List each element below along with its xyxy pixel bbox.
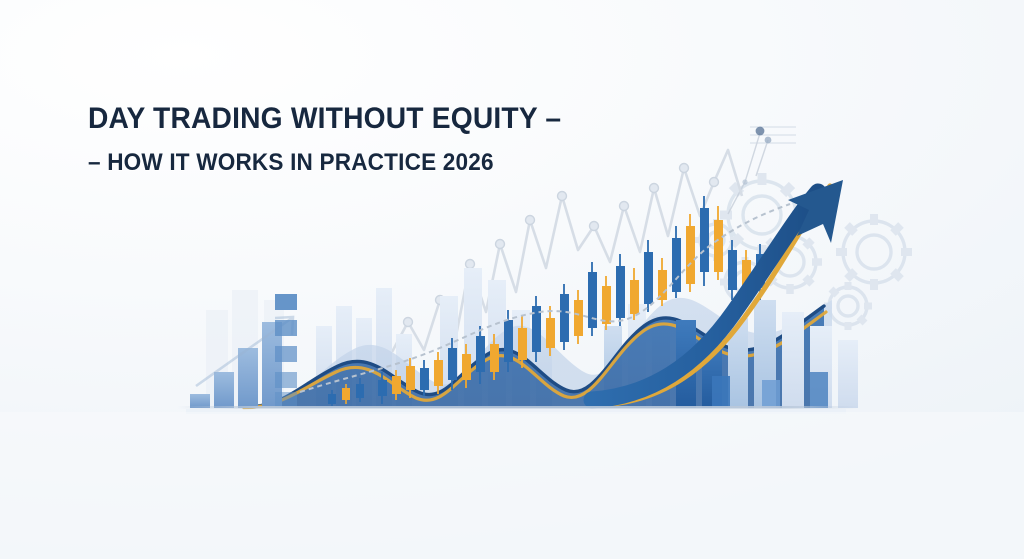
candle bbox=[728, 250, 737, 290]
candle bbox=[546, 318, 555, 348]
candle bbox=[602, 286, 611, 324]
candle bbox=[342, 388, 350, 400]
bar bbox=[782, 312, 804, 408]
candle bbox=[518, 328, 527, 360]
candle bbox=[490, 344, 499, 372]
candle bbox=[700, 208, 709, 272]
bar bbox=[810, 372, 828, 408]
gear-icon bbox=[836, 214, 912, 290]
candle bbox=[560, 294, 569, 342]
bar bbox=[238, 348, 258, 408]
candle bbox=[574, 300, 583, 336]
candle bbox=[406, 366, 415, 390]
bar bbox=[190, 394, 210, 408]
candle bbox=[630, 280, 639, 314]
candle bbox=[476, 336, 485, 372]
candle bbox=[356, 384, 364, 398]
candle bbox=[392, 376, 401, 394]
candle bbox=[434, 360, 443, 386]
candle bbox=[378, 380, 387, 396]
candle bbox=[328, 394, 336, 404]
candle bbox=[672, 238, 681, 292]
candle bbox=[420, 368, 429, 390]
candle bbox=[686, 226, 695, 284]
financial-chart-illustration bbox=[0, 0, 1024, 559]
bar bbox=[838, 340, 858, 408]
node-diagram-icon bbox=[728, 127, 796, 214]
bar bbox=[712, 376, 730, 408]
candle bbox=[462, 354, 471, 380]
candle bbox=[616, 266, 625, 318]
candle bbox=[504, 320, 513, 362]
poster-canvas: DAY TRADING WITHOUT EQUITY – – HOW IT WO… bbox=[0, 0, 1024, 559]
bar bbox=[762, 380, 780, 408]
candle bbox=[644, 252, 653, 304]
candle bbox=[658, 270, 667, 300]
candle bbox=[714, 220, 723, 272]
candle bbox=[448, 348, 457, 380]
bar bbox=[214, 372, 234, 408]
